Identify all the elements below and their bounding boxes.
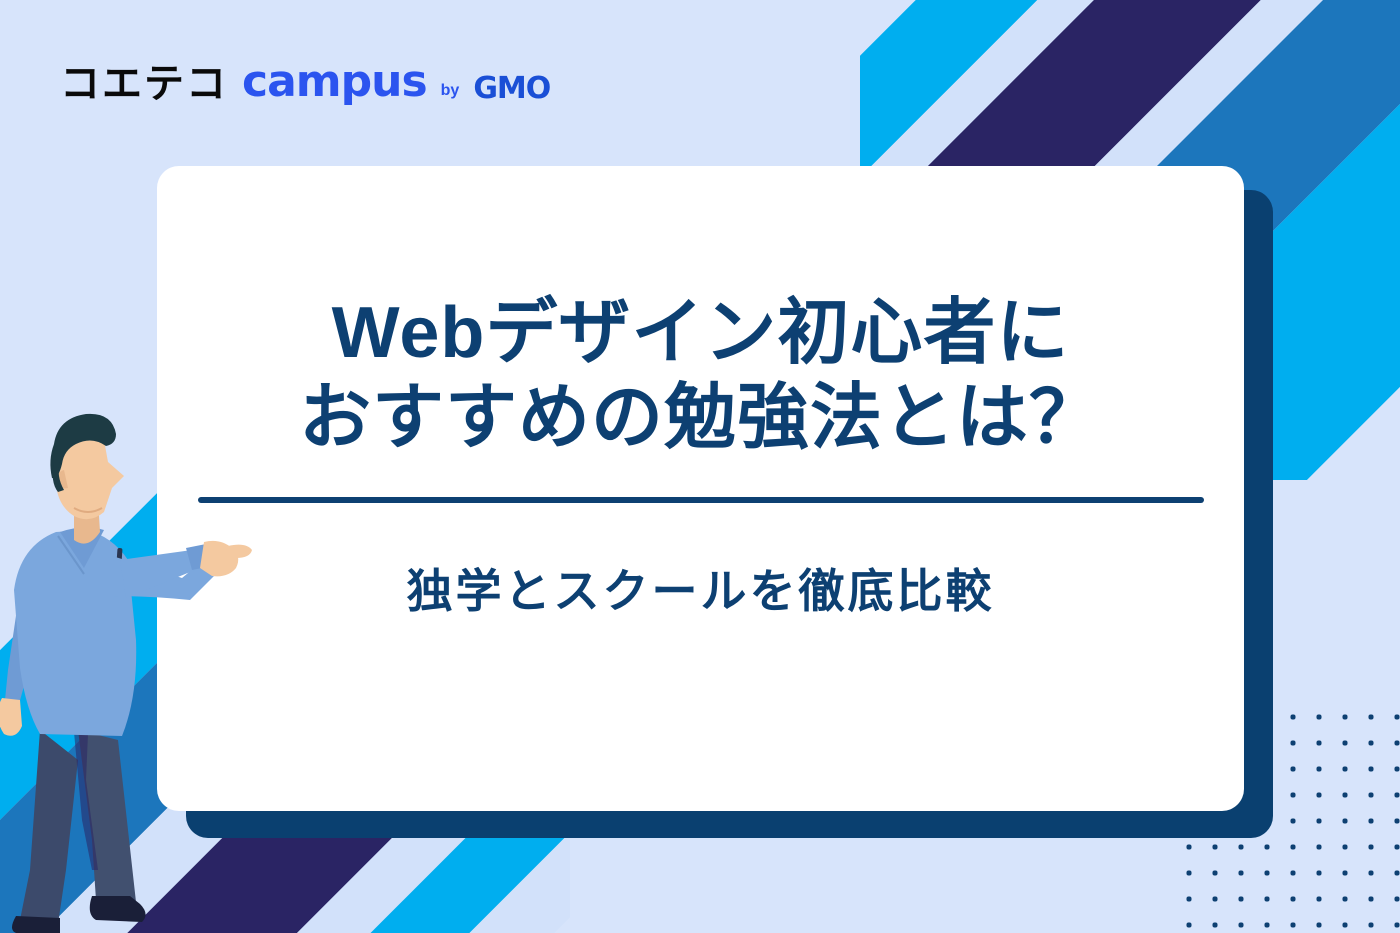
back-leg <box>20 730 78 924</box>
page-title: Webデザイン初心者に おすすめの勉強法とは？ <box>157 291 1244 461</box>
logo-campus-text: campus <box>242 60 427 104</box>
main-content-card: Webデザイン初心者に おすすめの勉強法とは？ 独学とスクールを徹底比較 <box>157 166 1244 811</box>
man-pointing-illustration <box>0 400 270 933</box>
title-divider <box>198 497 1204 503</box>
front-shoe <box>90 896 146 922</box>
poster-canvas: Webデザイン初心者に おすすめの勉強法とは？ 独学とスクールを徹底比較 <box>0 0 1400 933</box>
site-logo[interactable]: コエテコ campus by GMO <box>60 60 550 104</box>
logo-by-text: by <box>441 83 460 104</box>
back-hand <box>0 698 22 736</box>
back-shoe <box>12 916 60 933</box>
page-subtitle: 独学とスクールを徹底比較 <box>407 555 995 621</box>
logo-koeteko-text: コエテコ <box>60 64 228 104</box>
logo-gmo-text: GMO <box>473 74 550 104</box>
